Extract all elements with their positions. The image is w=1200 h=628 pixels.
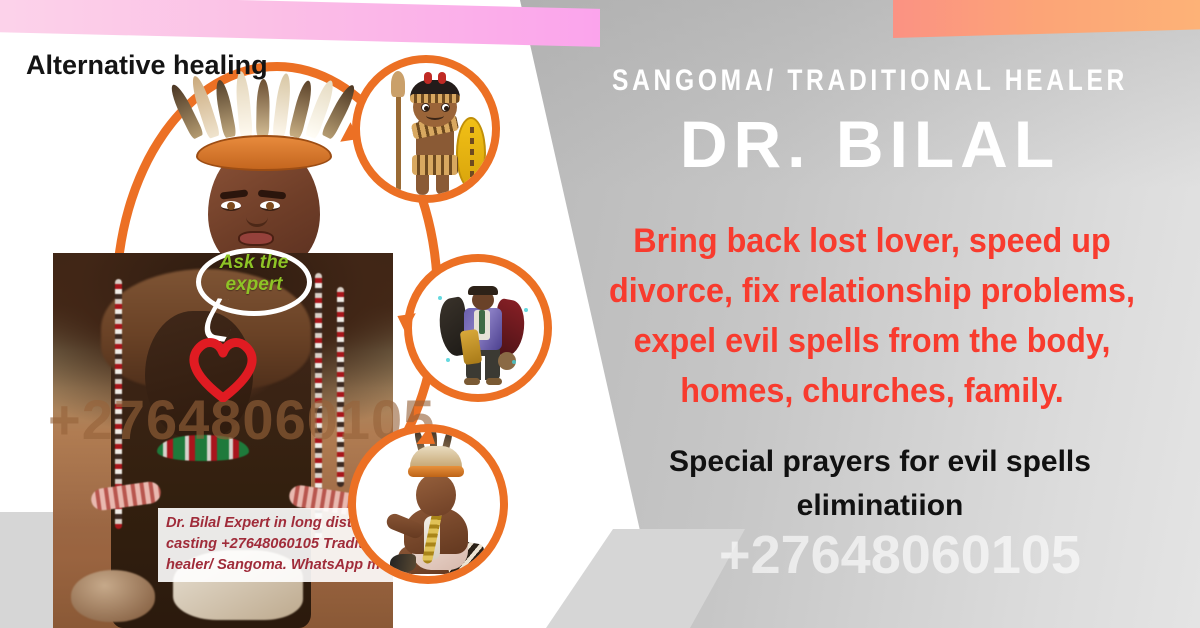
services-line-2: divorce, fix relationship problems, xyxy=(574,266,1171,316)
circle-zulu-boy xyxy=(352,55,500,203)
heart-icon xyxy=(186,336,260,402)
poster-canvas: +27648060105 Ask the expert Dr. Bilal Ex… xyxy=(0,0,1200,628)
phone-watermark: +27648060105 xyxy=(600,524,1200,586)
special-prayers-text: Special prayers for evil spells eliminat… xyxy=(580,440,1180,528)
prayers-line-2: eliminatiion xyxy=(580,484,1180,528)
page-title: DR. BILAL xyxy=(540,106,1200,182)
right-text-column: SANGOMA/ TRADITIONAL HEALER DR. BILAL Br… xyxy=(540,0,1200,628)
services-line-1: Bring back lost lover, speed up xyxy=(574,216,1171,266)
circle-cloaked-healer xyxy=(404,254,552,402)
prayers-line-1: Special prayers for evil spells xyxy=(580,440,1180,484)
left-collage: +27648060105 Ask the expert Dr. Bilal Ex… xyxy=(0,0,560,628)
feather-headdress-icon xyxy=(190,79,350,141)
speech-bubble-text: Ask the expert xyxy=(198,252,310,296)
alternative-healing-label: Alternative healing xyxy=(26,50,268,81)
services-line-4: homes, churches, family. xyxy=(574,366,1171,416)
kicker-heading: SANGOMA/ TRADITIONAL HEALER xyxy=(599,64,1140,98)
services-line-3: expel evil spells from the body, xyxy=(574,316,1171,366)
services-red-text: Bring back lost lover, speed up divorce,… xyxy=(574,216,1171,416)
